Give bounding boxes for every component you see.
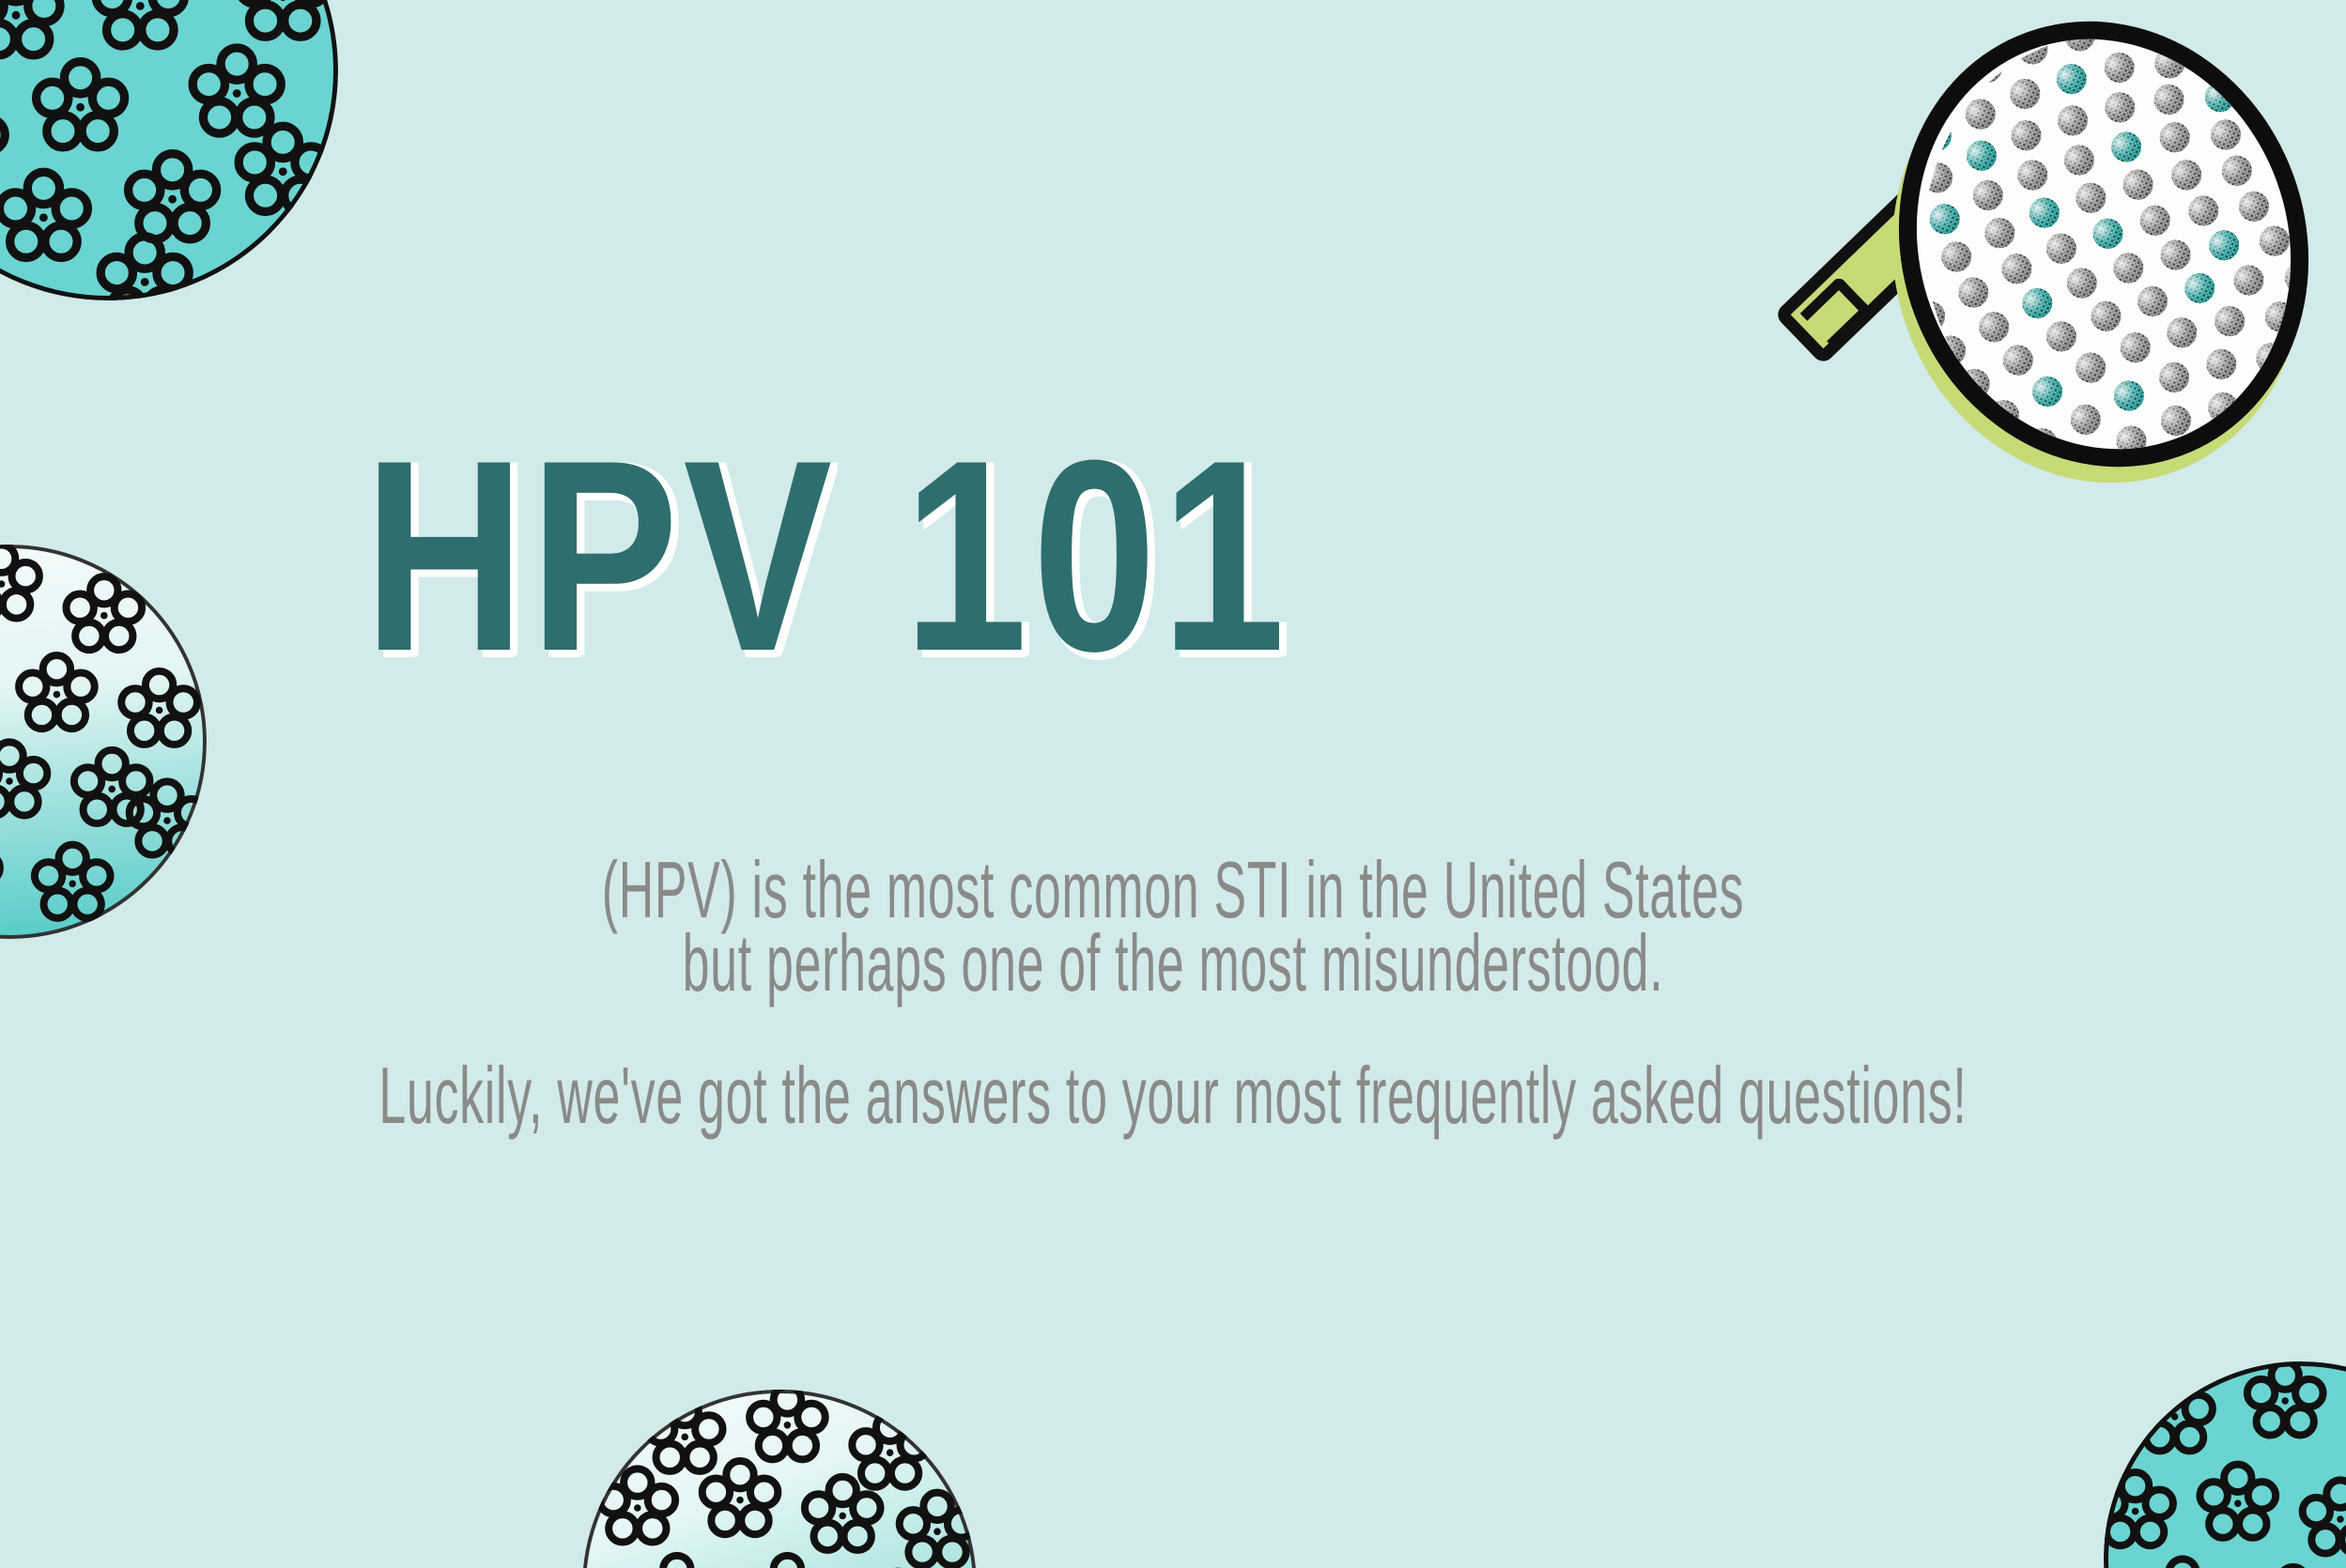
poster-canvas: HPV 101 (HPV) is the most common STI in … — [0, 0, 2346, 1568]
paragraph-2-line-1: Luckily, we've got the answers to your m… — [305, 1051, 2042, 1141]
lens-virus-particles — [1837, 0, 2346, 525]
decor-particle-top-left — [0, 0, 338, 300]
body-copy-container: (HPV) is the most common STI in the Unit… — [0, 845, 2346, 1124]
magnifier-lens — [1837, 0, 2346, 525]
decor-particle-bottom-center — [582, 1390, 977, 1568]
particle-capsomere-pattern — [0, 0, 338, 300]
page-title-container: HPV 101 — [0, 427, 1653, 686]
particle-capsomere-pattern — [2104, 1361, 2346, 1568]
particle-capsomere-pattern — [582, 1390, 977, 1568]
paragraph-2: Luckily, we've got the answers to your m… — [0, 1051, 2346, 1124]
decor-particle-bottom-right — [2104, 1361, 2346, 1568]
paragraph-1: (HPV) is the most common STI in the Unit… — [0, 845, 2346, 992]
paragraph-1-line-2: but perhaps one of the most misunderstoo… — [305, 918, 2042, 1008]
magnifier-handle-cap — [1800, 276, 1874, 349]
page-title: HPV 101 — [363, 427, 1289, 686]
magnifying-glass-illustration — [1761, 0, 2346, 535]
